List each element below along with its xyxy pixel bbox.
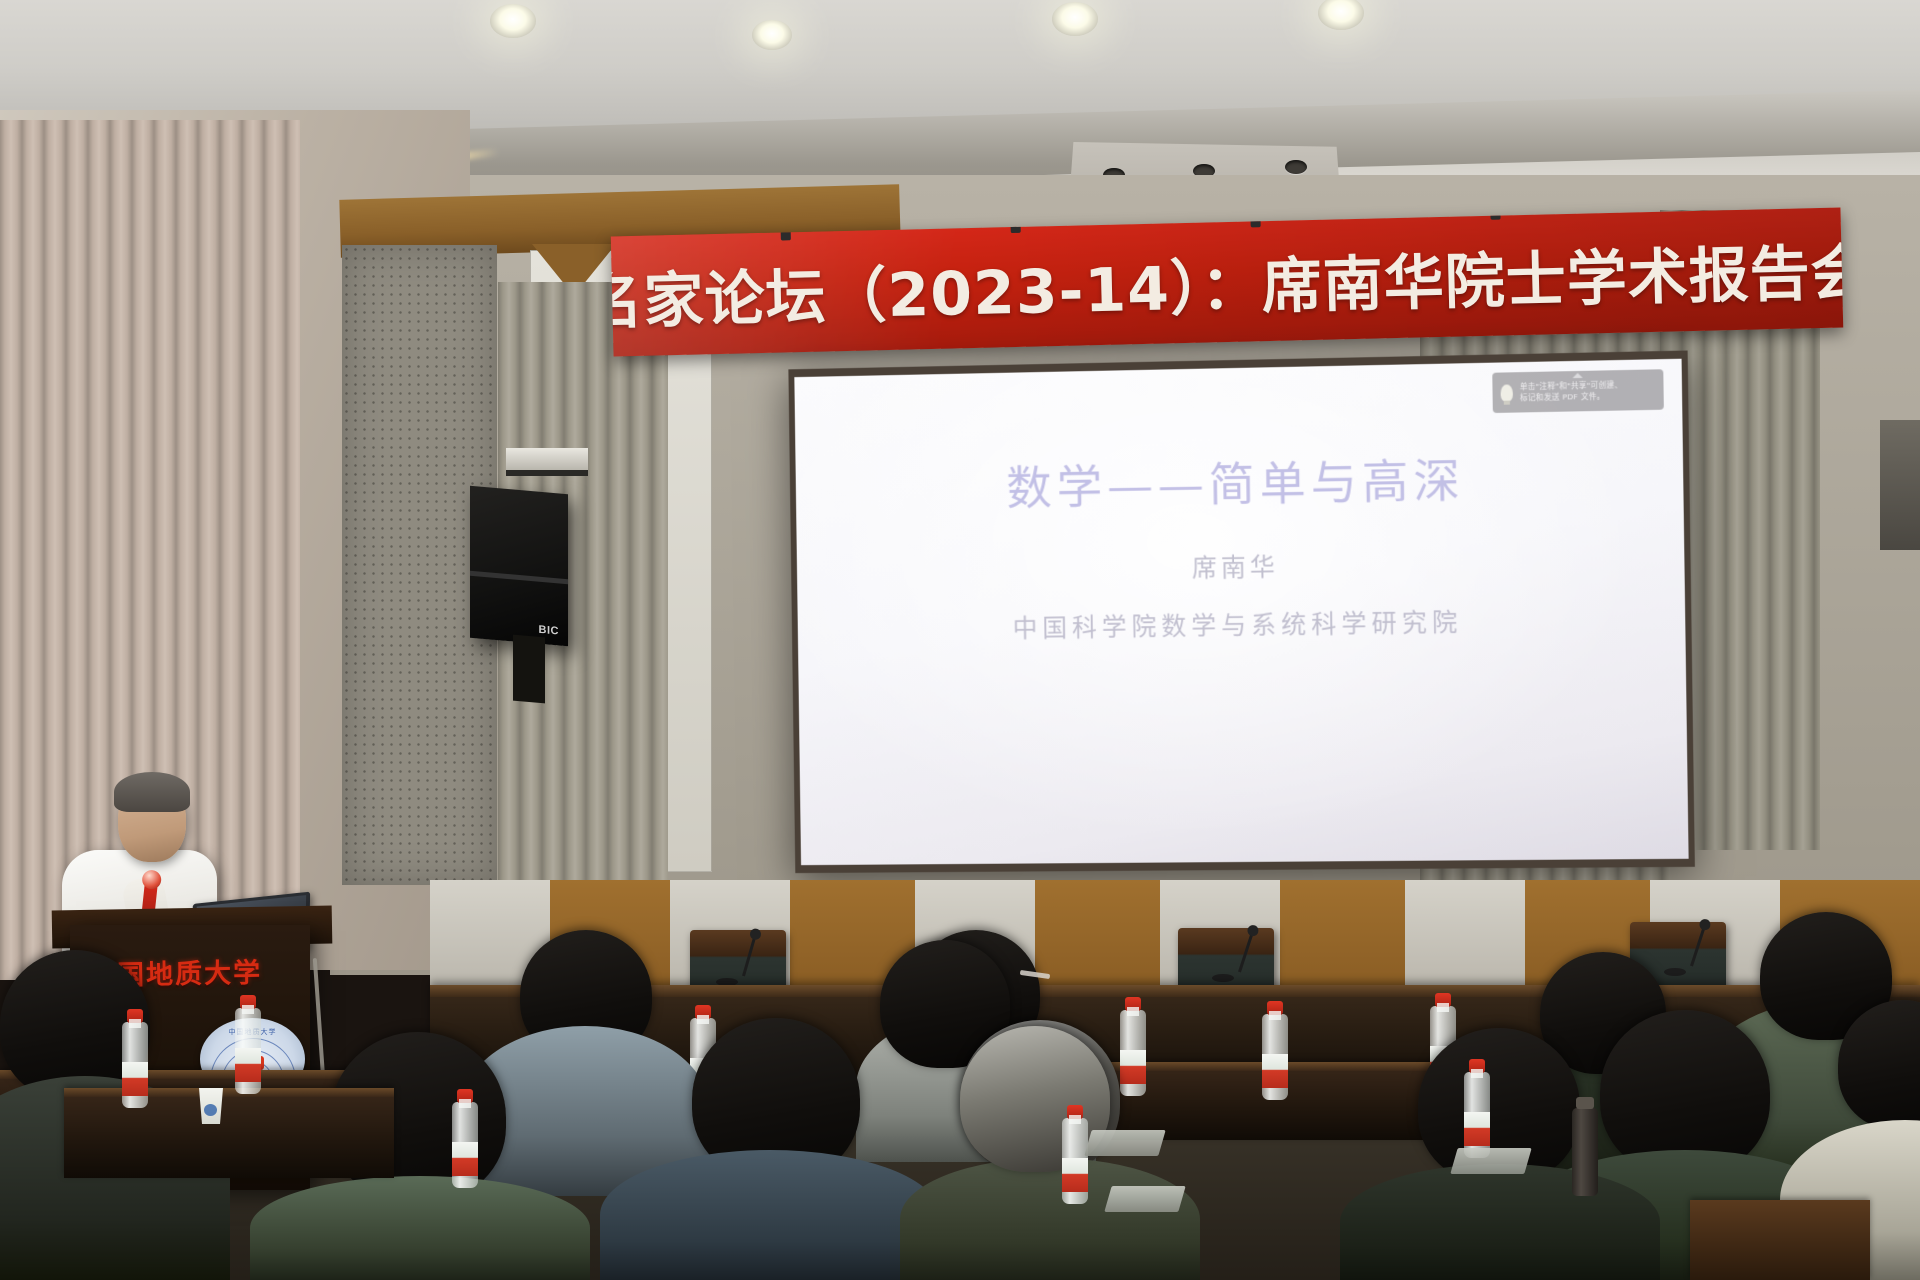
water-bottle <box>1062 1118 1088 1204</box>
audience-shoulders <box>600 1150 940 1280</box>
water-bottle <box>1464 1072 1490 1158</box>
stage-wall-wood-panel <box>1035 880 1160 990</box>
audience-shoulders <box>1340 1164 1660 1280</box>
audience-chair-back <box>1690 1200 1870 1280</box>
speaker-brand-label: BIC <box>539 624 559 638</box>
slide-title: 数学——简单与高深 <box>795 440 1683 522</box>
lightbulb-icon <box>1501 384 1513 401</box>
tooltip-line-2: 标记和发送 PDF 文件。 <box>1520 390 1623 403</box>
audience-shoulders <box>900 1158 1200 1280</box>
water-bottle <box>122 1022 148 1108</box>
stage-microphone-base <box>1212 974 1234 982</box>
water-bottle <box>1262 1014 1288 1100</box>
cup-logo-icon <box>204 1104 217 1116</box>
ceiling-downlight <box>752 20 792 50</box>
water-bottle <box>1120 1010 1146 1096</box>
audience-shoulders <box>250 1176 590 1280</box>
banner-title: 名家论坛（2023-14）：席南华院士学术报告会 <box>611 223 1843 340</box>
desk-tablet[interactable] <box>1450 1148 1531 1174</box>
projection-screen: 单击"注释"和"共享"可创建、 标记和发送 PDF 文件。 数学——简单与高深 … <box>794 359 1688 865</box>
head-table-edge <box>430 985 1920 997</box>
ceiling-downlight <box>1052 2 1098 36</box>
dark-beverage-bottle <box>1572 1108 1598 1196</box>
water-bottle <box>235 1008 261 1094</box>
desk-tablet[interactable] <box>1104 1186 1185 1212</box>
desk-tablet[interactable] <box>1084 1130 1165 1156</box>
stage-microphone-base <box>1664 968 1686 976</box>
slide-affiliation: 中国科学院数学与系统科学研究院 <box>798 600 1686 648</box>
stage-wall-wood-panel <box>1280 880 1405 990</box>
water-bottle <box>452 1102 478 1188</box>
wall-speaker-icon: BIC <box>470 486 568 647</box>
stage-wall-panel <box>1405 880 1525 990</box>
tooltip-caret-icon <box>1573 373 1583 378</box>
lecture-hall-scene: BIC 名家论坛（2023-14）：席南华院士学术报告会 单击"注释"和"共享"… <box>0 0 1920 1280</box>
presenter-hair <box>114 772 190 812</box>
speaker-mount-bracket <box>513 635 545 704</box>
tooltip-text: 单击"注释"和"共享"可创建、 标记和发送 PDF 文件。 <box>1520 379 1623 404</box>
wall-speaker-right <box>1880 420 1920 550</box>
audience-desk <box>64 1088 394 1178</box>
pdf-tooltip: 单击"注释"和"共享"可创建、 标记和发送 PDF 文件。 <box>1492 369 1664 413</box>
audience-desk-edge <box>64 1088 394 1097</box>
speaker-shelf <box>506 448 588 476</box>
slide-author: 席南华 <box>797 541 1685 591</box>
ceiling-downlight <box>490 4 536 38</box>
projection-screen-frame: 单击"注释"和"共享"可创建、 标记和发送 PDF 文件。 数学——简单与高深 … <box>788 351 1695 874</box>
